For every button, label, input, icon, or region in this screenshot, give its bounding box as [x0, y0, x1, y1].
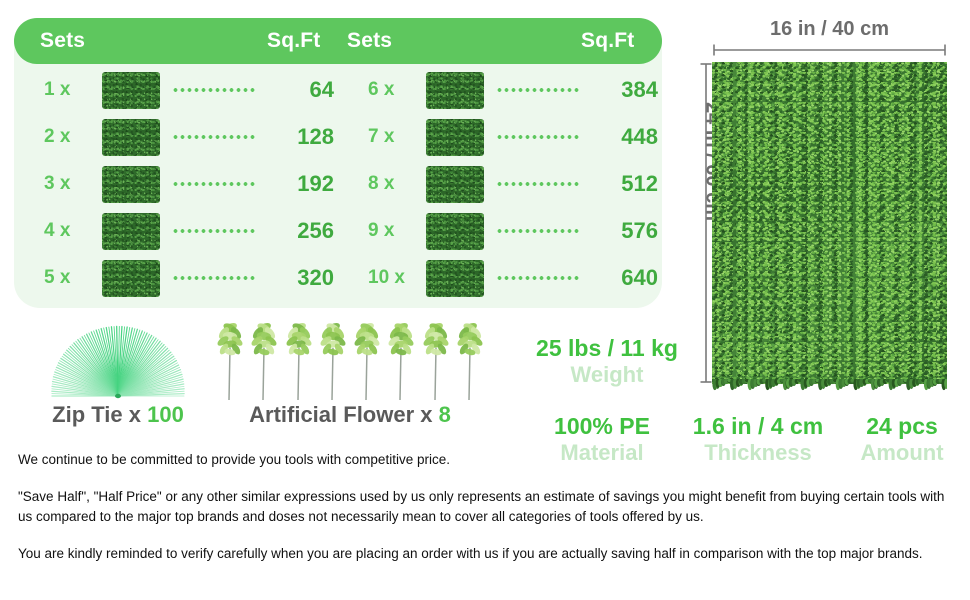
table-row: 9 x 576 — [338, 207, 662, 254]
table-header-bar: Sets Sq.Ft Sets Sq.Ft — [14, 18, 662, 64]
artificial-flower-icon — [352, 322, 382, 402]
sets-label: 2 x — [14, 126, 100, 148]
hedge-swatch-icon — [102, 260, 160, 297]
table-row: 3 x 192 — [14, 160, 338, 207]
artificial-flower-icon — [215, 322, 245, 402]
flower-row — [215, 322, 485, 402]
hedge-swatch-icon — [426, 119, 484, 156]
sqft-value: 384 — [574, 77, 658, 103]
spec-value: 25 lbs / 11 kg — [512, 336, 702, 362]
hedge-panel-image — [712, 62, 947, 384]
sets-label: 10 x — [338, 267, 424, 289]
sets-label: 9 x — [338, 220, 424, 242]
disclaimer-line-3: You are kindly reminded to verify carefu… — [18, 544, 954, 565]
artificial-flower-icon — [318, 322, 348, 402]
sets-label: 4 x — [14, 220, 100, 242]
height-dimension-line — [700, 62, 712, 384]
table-body: 1 x 64 2 x 128 3 x 192 4 x 256 — [14, 64, 662, 308]
column-header-sets-right: Sets — [347, 29, 392, 53]
spec-value: 100% PE — [527, 414, 677, 440]
hedge-swatch-icon — [426, 213, 484, 250]
dotted-leader — [496, 181, 580, 186]
sqft-value: 256 — [250, 218, 334, 244]
flower-caption: Artificial Flower x 8 — [215, 402, 485, 428]
sets-label: 6 x — [338, 79, 424, 101]
sets-label: 1 x — [14, 79, 100, 101]
sets-label: 7 x — [338, 126, 424, 148]
sets-label: 3 x — [14, 173, 100, 195]
hedge-swatch-icon — [426, 260, 484, 297]
spec-weight: 25 lbs / 11 kg Weight — [512, 336, 702, 388]
table-row: 6 x 384 — [338, 66, 662, 113]
sqft-value: 64 — [250, 77, 334, 103]
artificial-flower-icon — [386, 322, 416, 402]
spec-value: 1.6 in / 4 cm — [672, 414, 844, 440]
column-header-sets-left: Sets — [40, 29, 85, 53]
width-dimension-label: 16 in / 40 cm — [712, 18, 947, 41]
product-panel — [712, 62, 947, 384]
dotted-leader — [172, 275, 256, 280]
dotted-leader — [172, 134, 256, 139]
hedge-swatch-icon — [102, 213, 160, 250]
artificial-flower-icon — [421, 322, 451, 402]
flower-label: Artificial Flower x — [249, 402, 439, 427]
disclaimer-line-1: We continue to be committed to provide y… — [18, 450, 954, 471]
flower-count: 8 — [439, 402, 451, 427]
table-row: 8 x 512 — [338, 160, 662, 207]
dotted-leader — [496, 275, 580, 280]
table-row: 1 x 64 — [14, 66, 338, 113]
artificial-flower-icon — [455, 322, 485, 402]
spec-value: 24 pcs — [840, 414, 964, 440]
dotted-leader — [172, 87, 256, 92]
coverage-table: Sets Sq.Ft Sets Sq.Ft 1 x 64 2 x 128 3 x — [14, 18, 662, 308]
zip-tie-label: Zip Tie x — [52, 402, 147, 427]
sqft-value: 576 — [574, 218, 658, 244]
zip-tie-caption: Zip Tie x 100 — [18, 402, 218, 428]
dotted-leader — [496, 228, 580, 233]
table-column-left: 1 x 64 2 x 128 3 x 192 4 x 256 — [14, 64, 338, 308]
table-row: 10 x 640 — [338, 254, 662, 301]
table-row: 2 x 128 — [14, 113, 338, 160]
zip-tie-count: 100 — [147, 402, 184, 427]
hedge-swatch-icon — [426, 72, 484, 109]
hedge-swatch-icon — [102, 72, 160, 109]
zip-tie-fan-icon — [18, 322, 218, 400]
hedge-swatch-icon — [102, 119, 160, 156]
sets-label: 8 x — [338, 173, 424, 195]
hedge-swatch-icon — [102, 166, 160, 203]
sqft-value: 128 — [250, 124, 334, 150]
zip-tie-block: Zip Tie x 100 — [18, 322, 218, 440]
column-header-sqft-right: Sq.Ft — [581, 29, 635, 53]
disclaimer-line-2: "Save Half", "Half Price" or any other s… — [18, 487, 954, 528]
disclaimer: We continue to be committed to provide y… — [18, 450, 954, 564]
sets-label: 5 x — [14, 267, 100, 289]
table-row: 4 x 256 — [14, 207, 338, 254]
spec-label: Weight — [512, 362, 702, 388]
hedge-swatch-icon — [426, 166, 484, 203]
sqft-value: 512 — [574, 171, 658, 197]
width-dimension-line — [712, 44, 947, 56]
table-row: 5 x 320 — [14, 254, 338, 301]
dotted-leader — [496, 134, 580, 139]
artificial-flower-icon — [249, 322, 279, 402]
dotted-leader — [172, 181, 256, 186]
table-row: 7 x 448 — [338, 113, 662, 160]
sqft-value: 448 — [574, 124, 658, 150]
sqft-value: 320 — [250, 265, 334, 291]
dotted-leader — [172, 228, 256, 233]
column-header-sqft-left: Sq.Ft — [267, 29, 321, 53]
flower-block: Artificial Flower x 8 — [215, 322, 485, 440]
artificial-flower-icon — [284, 322, 314, 402]
sqft-value: 192 — [250, 171, 334, 197]
table-column-right: 6 x 384 7 x 448 8 x 512 9 x 57 — [338, 64, 662, 308]
sqft-value: 640 — [574, 265, 658, 291]
dotted-leader — [496, 87, 580, 92]
